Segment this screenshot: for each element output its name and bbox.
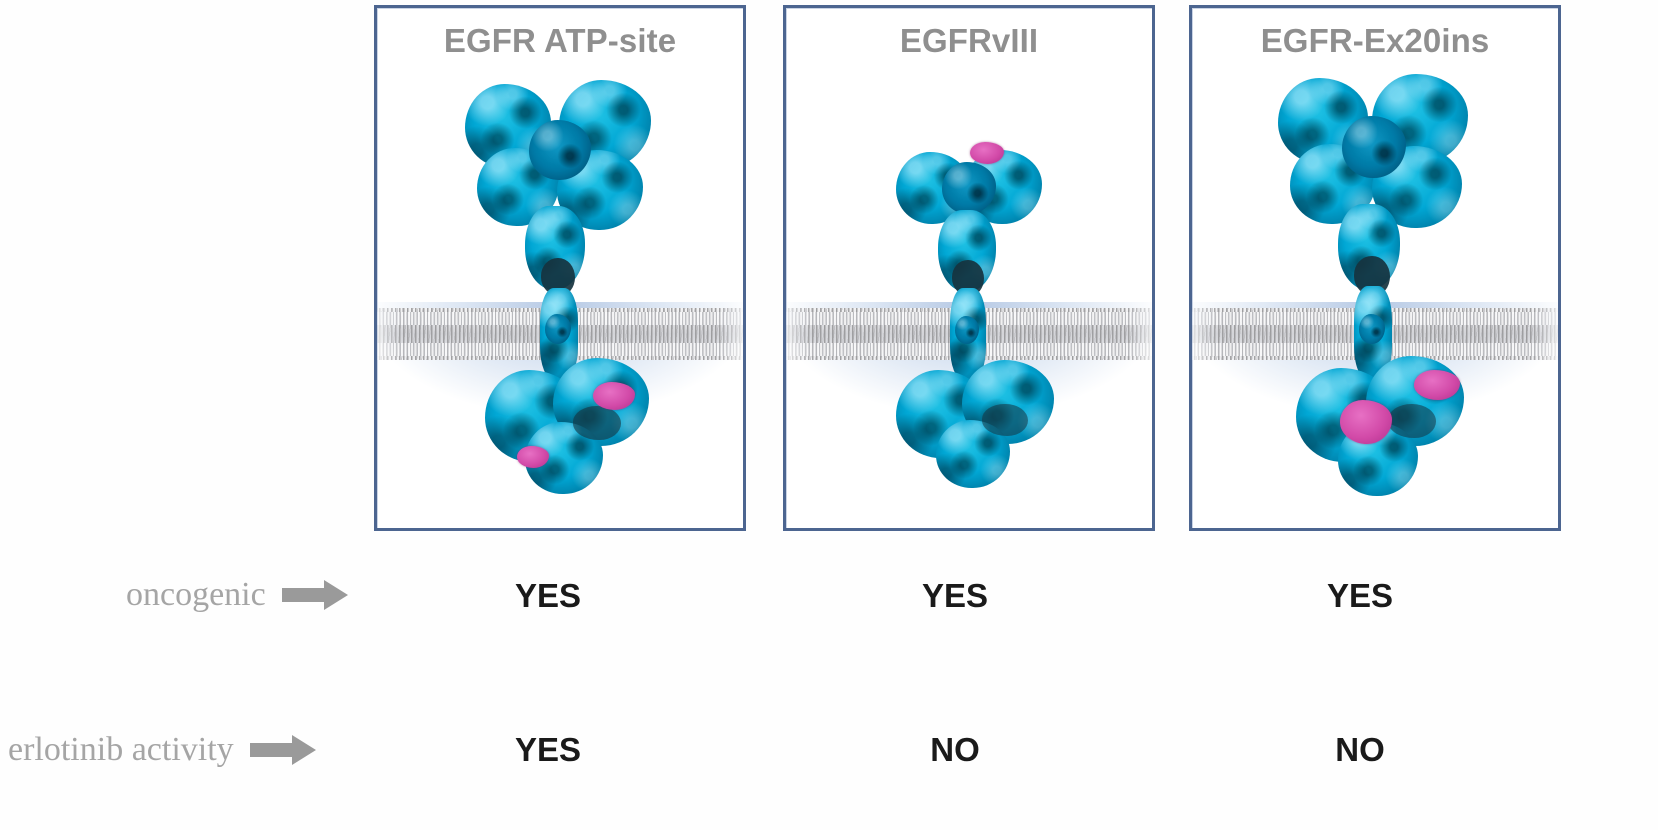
panel-egfr-atp-site: EGFR ATP-site <box>374 5 746 531</box>
protein-shadow <box>1388 404 1436 438</box>
right-arrow-icon <box>250 735 316 765</box>
value-erlotinib-egfr-atp-site: YES <box>448 731 648 769</box>
panel-egfrviii: EGFRvIII <box>783 5 1155 531</box>
row-label-text: erlotinib activity <box>8 731 234 769</box>
panel-title: EGFR-Ex20ins <box>1192 22 1558 60</box>
panel-egfr-ex20ins: EGFR-Ex20ins <box>1189 5 1561 531</box>
value-erlotinib-egfr-ex20ins: NO <box>1260 731 1460 769</box>
panel-title: EGFR ATP-site <box>377 22 743 60</box>
row-label-oncogenic: oncogenic <box>126 576 348 614</box>
protein-shadow <box>573 406 621 440</box>
value-erlotinib-egfrviii: NO <box>855 731 1055 769</box>
row-label-text: oncogenic <box>126 576 266 614</box>
protein-shadow <box>982 404 1028 436</box>
right-arrow-icon <box>282 580 348 610</box>
panel-title: EGFRvIII <box>786 22 1152 60</box>
figure-canvas: EGFR ATP-site EGFRvIII <box>0 0 1658 830</box>
value-oncogenic-egfr-atp-site: YES <box>448 577 648 615</box>
receptor-illustration-egfr-atp-site <box>377 70 743 528</box>
value-oncogenic-egfrviii: YES <box>855 577 1055 615</box>
value-oncogenic-egfr-ex20ins: YES <box>1260 577 1460 615</box>
receptor-illustration-egfrviii <box>786 70 1152 528</box>
receptor-illustration-egfr-ex20ins <box>1192 70 1558 528</box>
row-label-erlotinib-activity: erlotinib activity <box>8 731 316 769</box>
